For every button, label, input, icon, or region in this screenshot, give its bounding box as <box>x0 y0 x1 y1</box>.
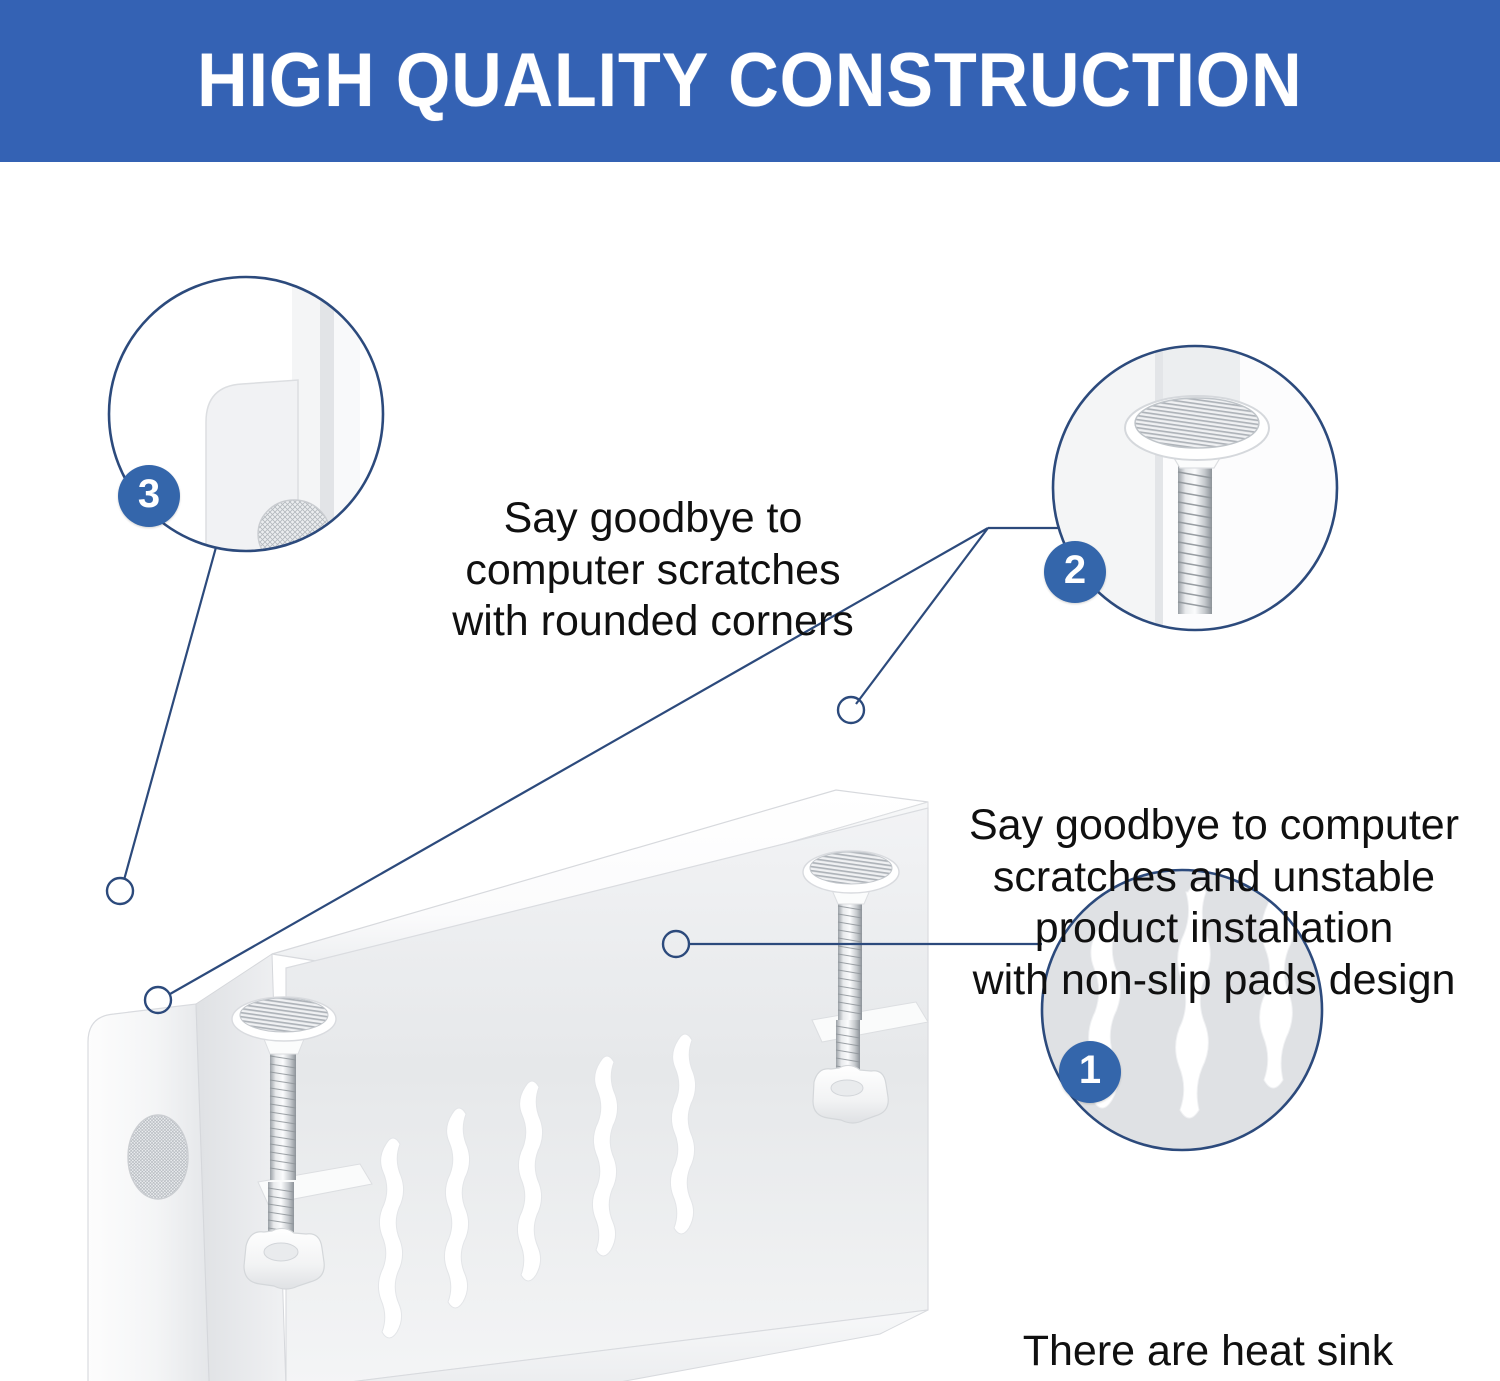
caption-line: There are heat sink <box>988 1326 1428 1378</box>
clamp-knob <box>813 1065 888 1123</box>
caption-line: Say goodbye to computer <box>942 800 1486 852</box>
clamp-knob <box>244 1228 324 1289</box>
callout-caption-3: Say goodbye to computer scratches with r… <box>418 493 888 648</box>
callout-badge-3[interactable]: 3 <box>118 465 180 527</box>
caption-line: with non-slip pads design <box>942 955 1486 1007</box>
callout-badge-1-label: 1 <box>1079 1050 1101 1090</box>
clamp-screw-upper <box>270 1050 296 1180</box>
header-banner: HIGH QUALITY CONSTRUCTION <box>0 0 1500 162</box>
callout-caption-2: Say goodbye to computer scratches and un… <box>942 800 1486 1006</box>
clamp-screw-upper <box>838 900 862 1020</box>
product-render <box>88 790 928 1381</box>
leader-anchor-2-right <box>838 697 864 723</box>
caption-line: with rounded corners <box>418 596 888 648</box>
caption-line: scratches and unstable <box>942 852 1486 904</box>
page-title: HIGH QUALITY CONSTRUCTION <box>197 43 1302 119</box>
caption-line: Say goodbye to <box>418 493 888 545</box>
leader-line-3 <box>124 540 218 880</box>
product-diagram-svg <box>0 162 1500 1381</box>
callout-badge-1[interactable]: 1 <box>1059 1041 1121 1103</box>
caption-line: computer scratches <box>418 545 888 597</box>
caption-line: product installation <box>942 903 1486 955</box>
leader-anchor-3 <box>107 878 133 904</box>
product-illustration-scene: 3 2 1 Say goodbye to computer scratches … <box>0 162 1500 1381</box>
non-slip-mesh-pad-left <box>128 1115 188 1199</box>
callout-badge-2-label: 2 <box>1064 550 1086 590</box>
infographic-page: HIGH QUALITY CONSTRUCTION <box>0 0 1500 1381</box>
non-slip-mesh-pad <box>803 851 899 893</box>
callout-caption-1: There are heat sink holes to prevent hea… <box>988 1326 1428 1381</box>
caption-line: holes to prevent heat <box>988 1378 1428 1381</box>
callout-badge-3-label: 3 <box>138 474 160 514</box>
non-slip-mesh-pad <box>232 997 336 1041</box>
callout-badge-2[interactable]: 2 <box>1044 541 1106 603</box>
